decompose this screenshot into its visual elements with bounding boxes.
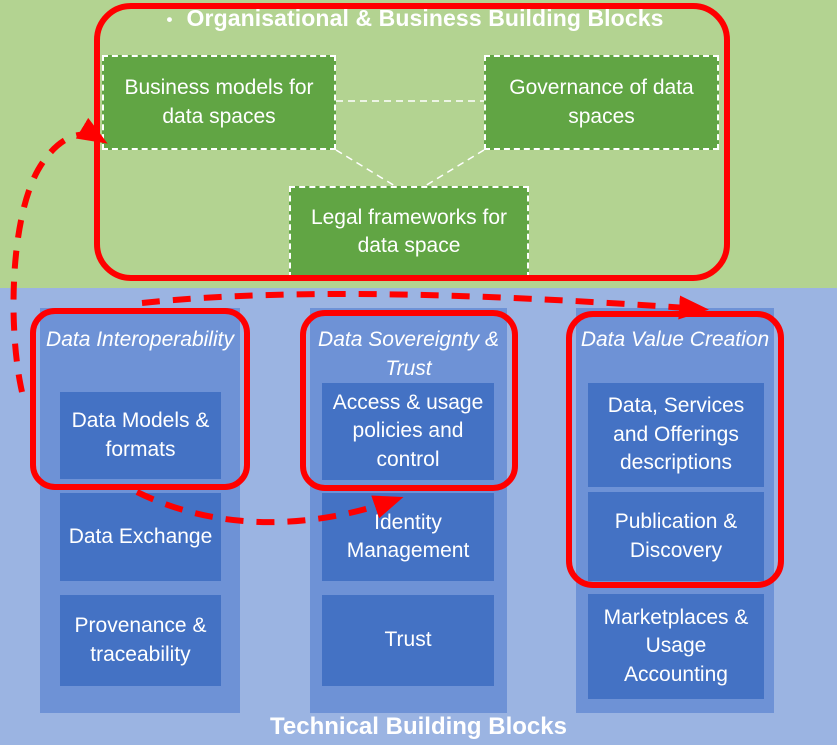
organisational-title: •Organisational & Business Building Bloc… [110, 5, 720, 32]
tech-box-data-services-offerings[interactable]: Data, Services and Offerings description… [588, 383, 764, 487]
tech-box-data-exchange-label: Data Exchange [69, 523, 213, 551]
tech-box-data-exchange[interactable]: Data Exchange [60, 493, 221, 581]
technical-title: Technical Building Blocks [0, 713, 837, 741]
tech-box-marketplaces-usage-accounting[interactable]: Marketplaces & Usage Accounting [588, 594, 764, 699]
tech-box-data-models-formats-label: Data Models & formats [65, 407, 216, 464]
green-box-legal-frameworks-label: Legal frameworks for data space [297, 204, 521, 261]
column-heading-data-sovereignty-trust: Data Sovereignty & Trust [310, 326, 507, 384]
organisational-title-text: Organisational & Business Building Block… [187, 5, 664, 31]
tech-box-identity-management-label: Identity Management [327, 509, 489, 566]
tech-box-access-usage-policies[interactable]: Access & usage policies and control [322, 383, 494, 480]
tech-box-data-services-offerings-label: Data, Services and Offerings description… [593, 392, 759, 477]
tech-box-identity-management[interactable]: Identity Management [322, 493, 494, 581]
green-box-business-models[interactable]: Business models for data spaces [102, 55, 336, 150]
tech-box-trust[interactable]: Trust [322, 595, 494, 686]
tech-box-publication-discovery[interactable]: Publication & Discovery [588, 492, 764, 581]
green-box-business-models-label: Business models for data spaces [110, 74, 328, 131]
green-box-legal-frameworks[interactable]: Legal frameworks for data space [289, 186, 529, 278]
column-heading-data-value-creation: Data Value Creation [576, 326, 774, 355]
tech-box-data-models-formats[interactable]: Data Models & formats [60, 392, 221, 479]
tech-box-access-usage-policies-label: Access & usage policies and control [327, 389, 489, 474]
bullet-icon: • [166, 10, 172, 29]
tech-box-provenance-traceability-label: Provenance & traceability [65, 612, 216, 669]
column-heading-data-interoperability: Data Interoperability [40, 326, 240, 355]
tech-box-trust-label: Trust [384, 626, 431, 654]
tech-box-provenance-traceability[interactable]: Provenance & traceability [60, 595, 221, 686]
green-box-governance-label: Governance of data spaces [492, 74, 711, 131]
tech-box-publication-discovery-label: Publication & Discovery [593, 508, 759, 565]
tech-box-marketplaces-usage-accounting-label: Marketplaces & Usage Accounting [593, 604, 759, 689]
green-box-governance[interactable]: Governance of data spaces [484, 55, 719, 150]
diagram-canvas: •Organisational & Business Building Bloc… [0, 0, 837, 745]
